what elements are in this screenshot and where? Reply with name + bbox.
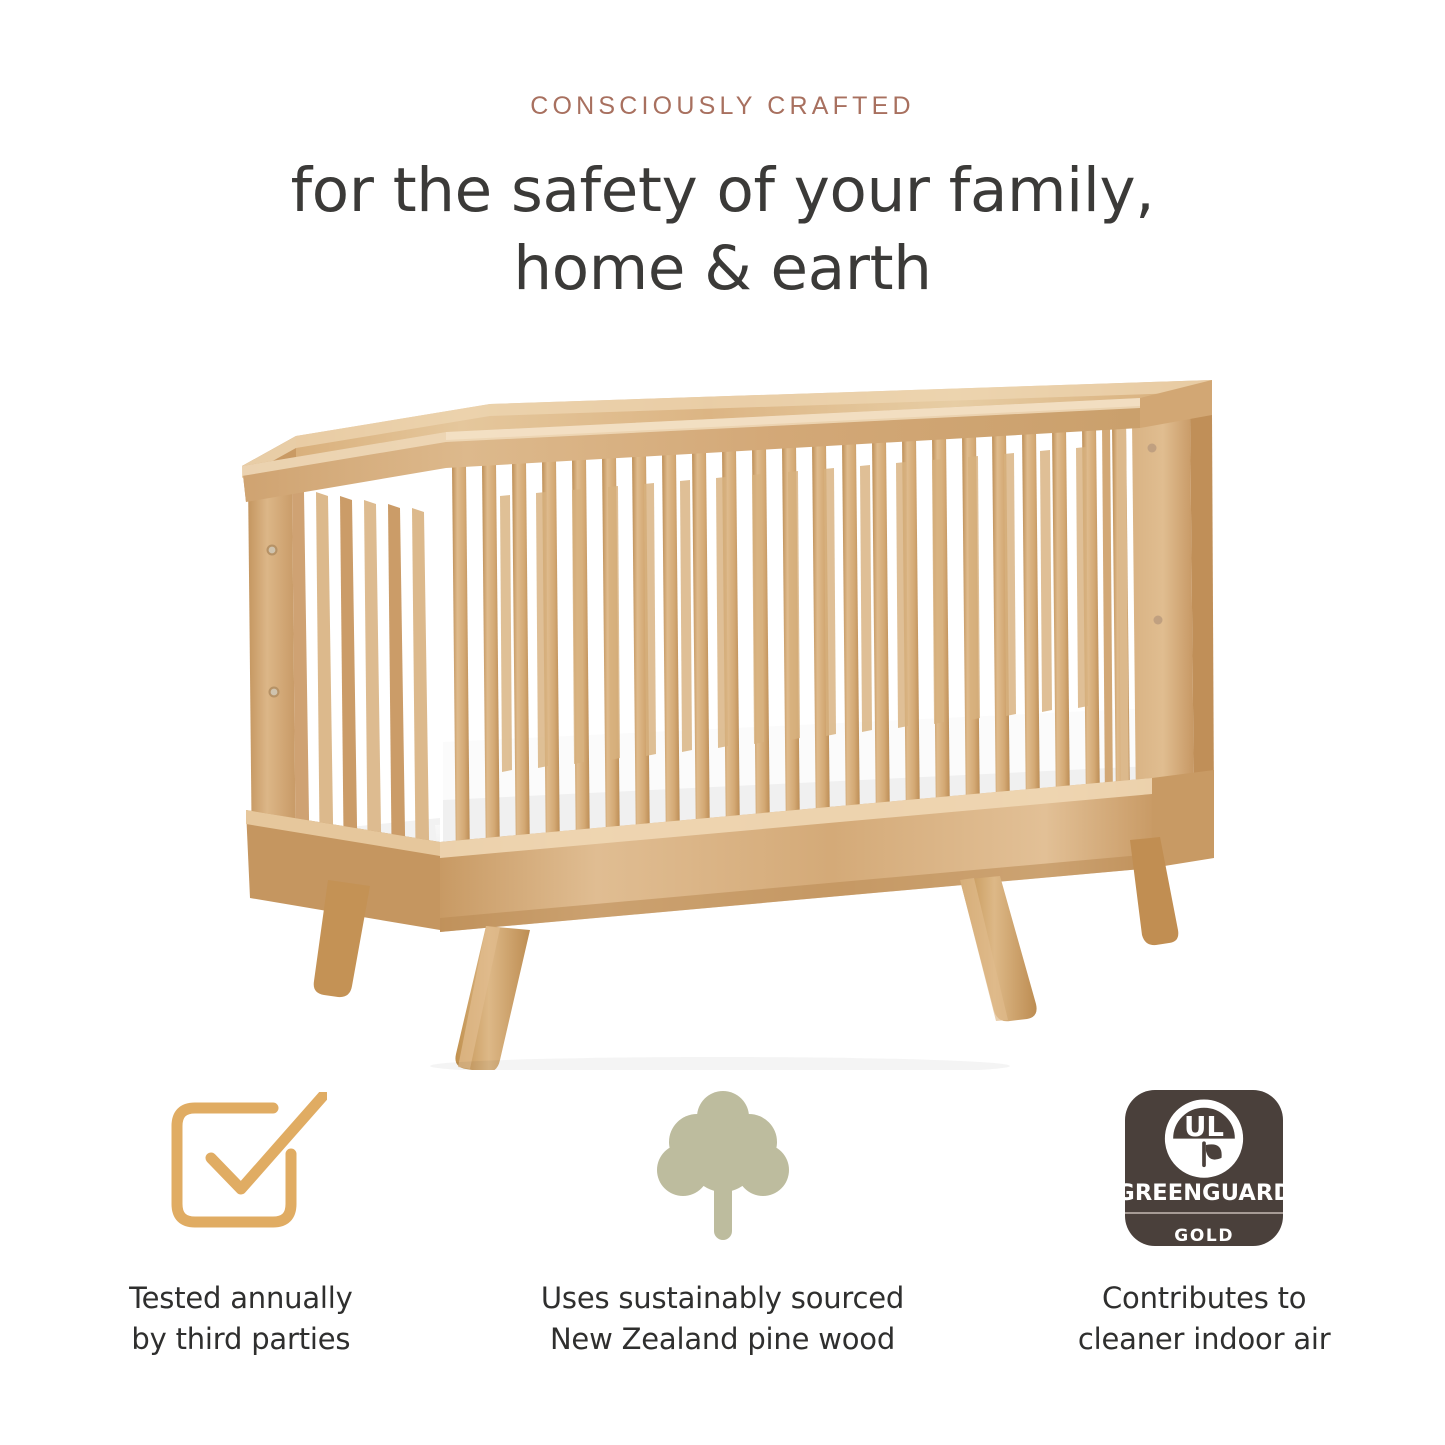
feature-caption-line-1: Uses sustainably sourced xyxy=(541,1278,904,1319)
checkbox-check-icon-wrap xyxy=(155,1085,327,1250)
feature-caption-line-2: cleaner indoor air xyxy=(1078,1319,1331,1360)
ul-letters: UL xyxy=(1184,1109,1224,1142)
feature-sustainable-wood: Uses sustainably sourced New Zealand pin… xyxy=(482,1085,964,1360)
product-image-crib xyxy=(200,370,1260,1070)
eyebrow-label: CONSCIOUSLY CRAFTED xyxy=(0,92,1445,121)
ul-mark-icon: UL xyxy=(1161,1099,1247,1178)
promo-graphic-page: CONSCIOUSLY CRAFTED for the safety of yo… xyxy=(0,0,1445,1445)
badge-level-label: GOLD xyxy=(1174,1226,1234,1246)
page-title: for the safety of your family, home & ea… xyxy=(0,152,1445,308)
greenguard-gold-badge-wrap: UL GREENGUARD GOLD xyxy=(1125,1085,1283,1250)
feature-cleaner-air: UL GREENGUARD GOLD Contributes to cleane… xyxy=(963,1085,1445,1360)
feature-caption: Contributes to cleaner indoor air xyxy=(1078,1278,1331,1360)
crib-right-corner-post xyxy=(1132,412,1214,810)
badge-divider xyxy=(1125,1212,1283,1214)
feature-caption-line-2: by third parties xyxy=(129,1319,353,1360)
feature-caption-line-1: Tested annually xyxy=(129,1278,353,1319)
feature-caption: Uses sustainably sourced New Zealand pin… xyxy=(541,1278,904,1360)
feature-caption: Tested annually by third parties xyxy=(129,1278,353,1360)
feature-tested-annually: Tested annually by third parties xyxy=(0,1085,482,1360)
crib-illustration xyxy=(200,370,1260,1070)
headline-line-1: for the safety of your family, xyxy=(291,155,1155,226)
greenguard-wordmark: GREENGUARD xyxy=(1125,1180,1283,1206)
headline-line-2: home & earth xyxy=(0,230,1445,308)
feature-caption-line-2: New Zealand pine wood xyxy=(541,1319,904,1360)
tree-icon-wrap xyxy=(653,1085,793,1250)
checkbox-check-icon xyxy=(155,1092,327,1244)
tree-icon xyxy=(653,1090,793,1245)
greenguard-gold-badge-icon: UL GREENGUARD GOLD xyxy=(1125,1090,1283,1246)
feature-caption-line-1: Contributes to xyxy=(1078,1278,1331,1319)
feature-row: Tested annually by third parties xyxy=(0,1085,1445,1385)
